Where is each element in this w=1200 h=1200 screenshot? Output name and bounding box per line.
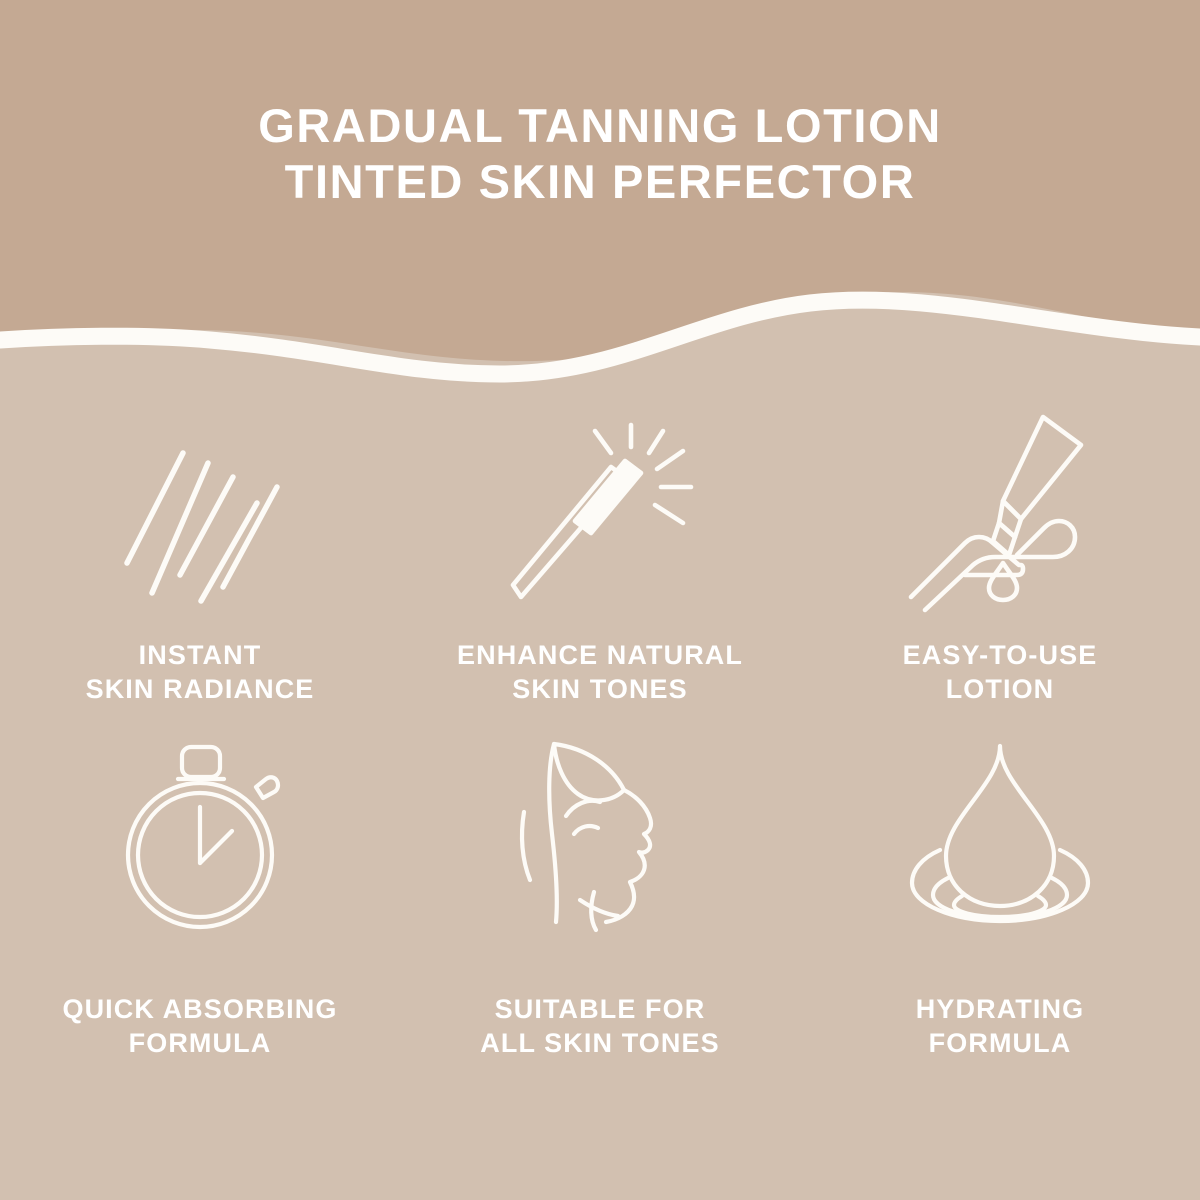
page-title: GRADUAL TANNING LOTION TINTED SKIN PERFE… — [0, 98, 1200, 210]
magic-wand-icon — [503, 410, 698, 610]
caption-line-1: EASY-TO-USE — [903, 638, 1098, 672]
face-profile-icon — [508, 720, 693, 930]
feature-item-quick-absorbing-formula: QUICK ABSORBING FORMULA — [0, 720, 400, 1070]
title-line-1: GRADUAL TANNING LOTION — [0, 98, 1200, 154]
feature-caption: INSTANT SKIN RADIANCE — [86, 638, 315, 706]
caption-line-2: SKIN TONES — [457, 672, 743, 706]
feature-item-enhance-natural-skin-tones: ENHANCE NATURAL SKIN TONES — [400, 410, 800, 720]
title-line-2: TINTED SKIN PERFECTOR — [0, 154, 1200, 210]
caption-line-2: FORMULA — [916, 1026, 1084, 1060]
caption-line-1: SUITABLE FOR — [480, 992, 719, 1026]
caption-line-1: INSTANT — [86, 638, 315, 672]
feature-item-instant-skin-radiance: INSTANT SKIN RADIANCE — [0, 410, 400, 720]
caption-line-2: LOTION — [903, 672, 1098, 706]
feature-caption: HYDRATING FORMULA — [916, 992, 1084, 1060]
feature-row-2: QUICK ABSORBING FORMULA — [0, 720, 1200, 1070]
feature-caption: ENHANCE NATURAL SKIN TONES — [457, 638, 743, 706]
feature-item-easy-to-use-lotion: EASY-TO-USE LOTION — [800, 410, 1200, 720]
caption-line-2: FORMULA — [62, 1026, 337, 1060]
stopwatch-icon — [110, 720, 290, 930]
feature-row-1: INSTANT SKIN RADIANCE — [0, 410, 1200, 720]
caption-line-1: ENHANCE NATURAL — [457, 638, 743, 672]
caption-line-1: QUICK ABSORBING — [62, 992, 337, 1026]
lotion-tube-hand-icon — [903, 410, 1098, 610]
caption-line-2: SKIN RADIANCE — [86, 672, 315, 706]
feature-item-hydrating-formula: HYDRATING FORMULA — [800, 720, 1200, 1070]
product-feature-poster: GRADUAL TANNING LOTION TINTED SKIN PERFE… — [0, 0, 1200, 1200]
caption-line-1: HYDRATING — [916, 992, 1084, 1026]
feature-item-suitable-for-all-skin-tones: SUITABLE FOR ALL SKIN TONES — [400, 720, 800, 1070]
feature-caption: QUICK ABSORBING FORMULA — [62, 992, 337, 1060]
radiance-lines-icon — [105, 410, 295, 610]
water-droplet-ripple-icon — [908, 720, 1093, 930]
caption-line-2: ALL SKIN TONES — [480, 1026, 719, 1060]
feature-caption: EASY-TO-USE LOTION — [903, 638, 1098, 706]
feature-grid: INSTANT SKIN RADIANCE — [0, 410, 1200, 1070]
feature-caption: SUITABLE FOR ALL SKIN TONES — [480, 992, 719, 1060]
